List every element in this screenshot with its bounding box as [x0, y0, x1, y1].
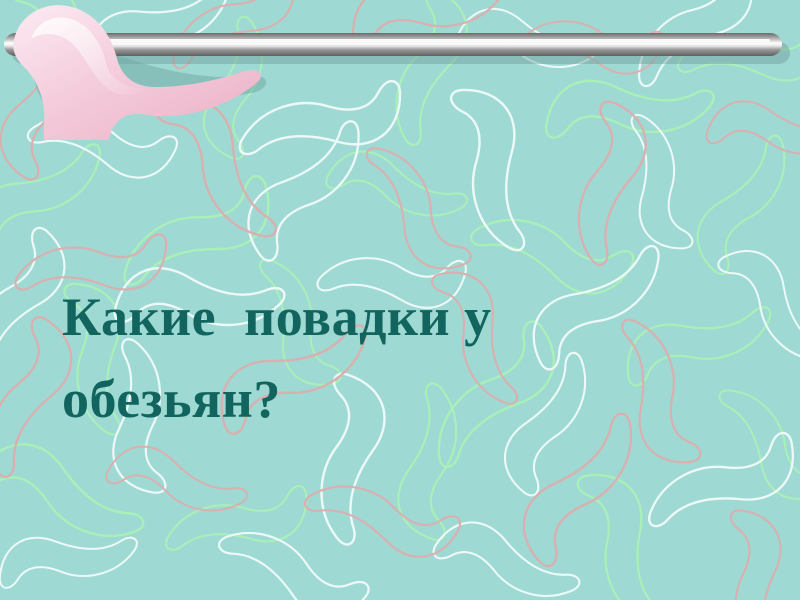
rod-shadow [12, 42, 790, 64]
title-line-2: обезьян? [62, 358, 762, 440]
rod-highlight [18, 39, 770, 42]
title-line-1: Какие повадки у [62, 276, 762, 358]
boomerang-shadow [33, 51, 266, 136]
presentation-slide: Какие повадки у обезьян? [0, 0, 800, 600]
slide-title: Какие повадки у обезьян? [62, 276, 762, 440]
metal-rod [4, 33, 782, 56]
slide-decoration [0, 0, 800, 140]
boomerang-highlight [31, 17, 143, 94]
pink-boomerang [13, 5, 261, 140]
